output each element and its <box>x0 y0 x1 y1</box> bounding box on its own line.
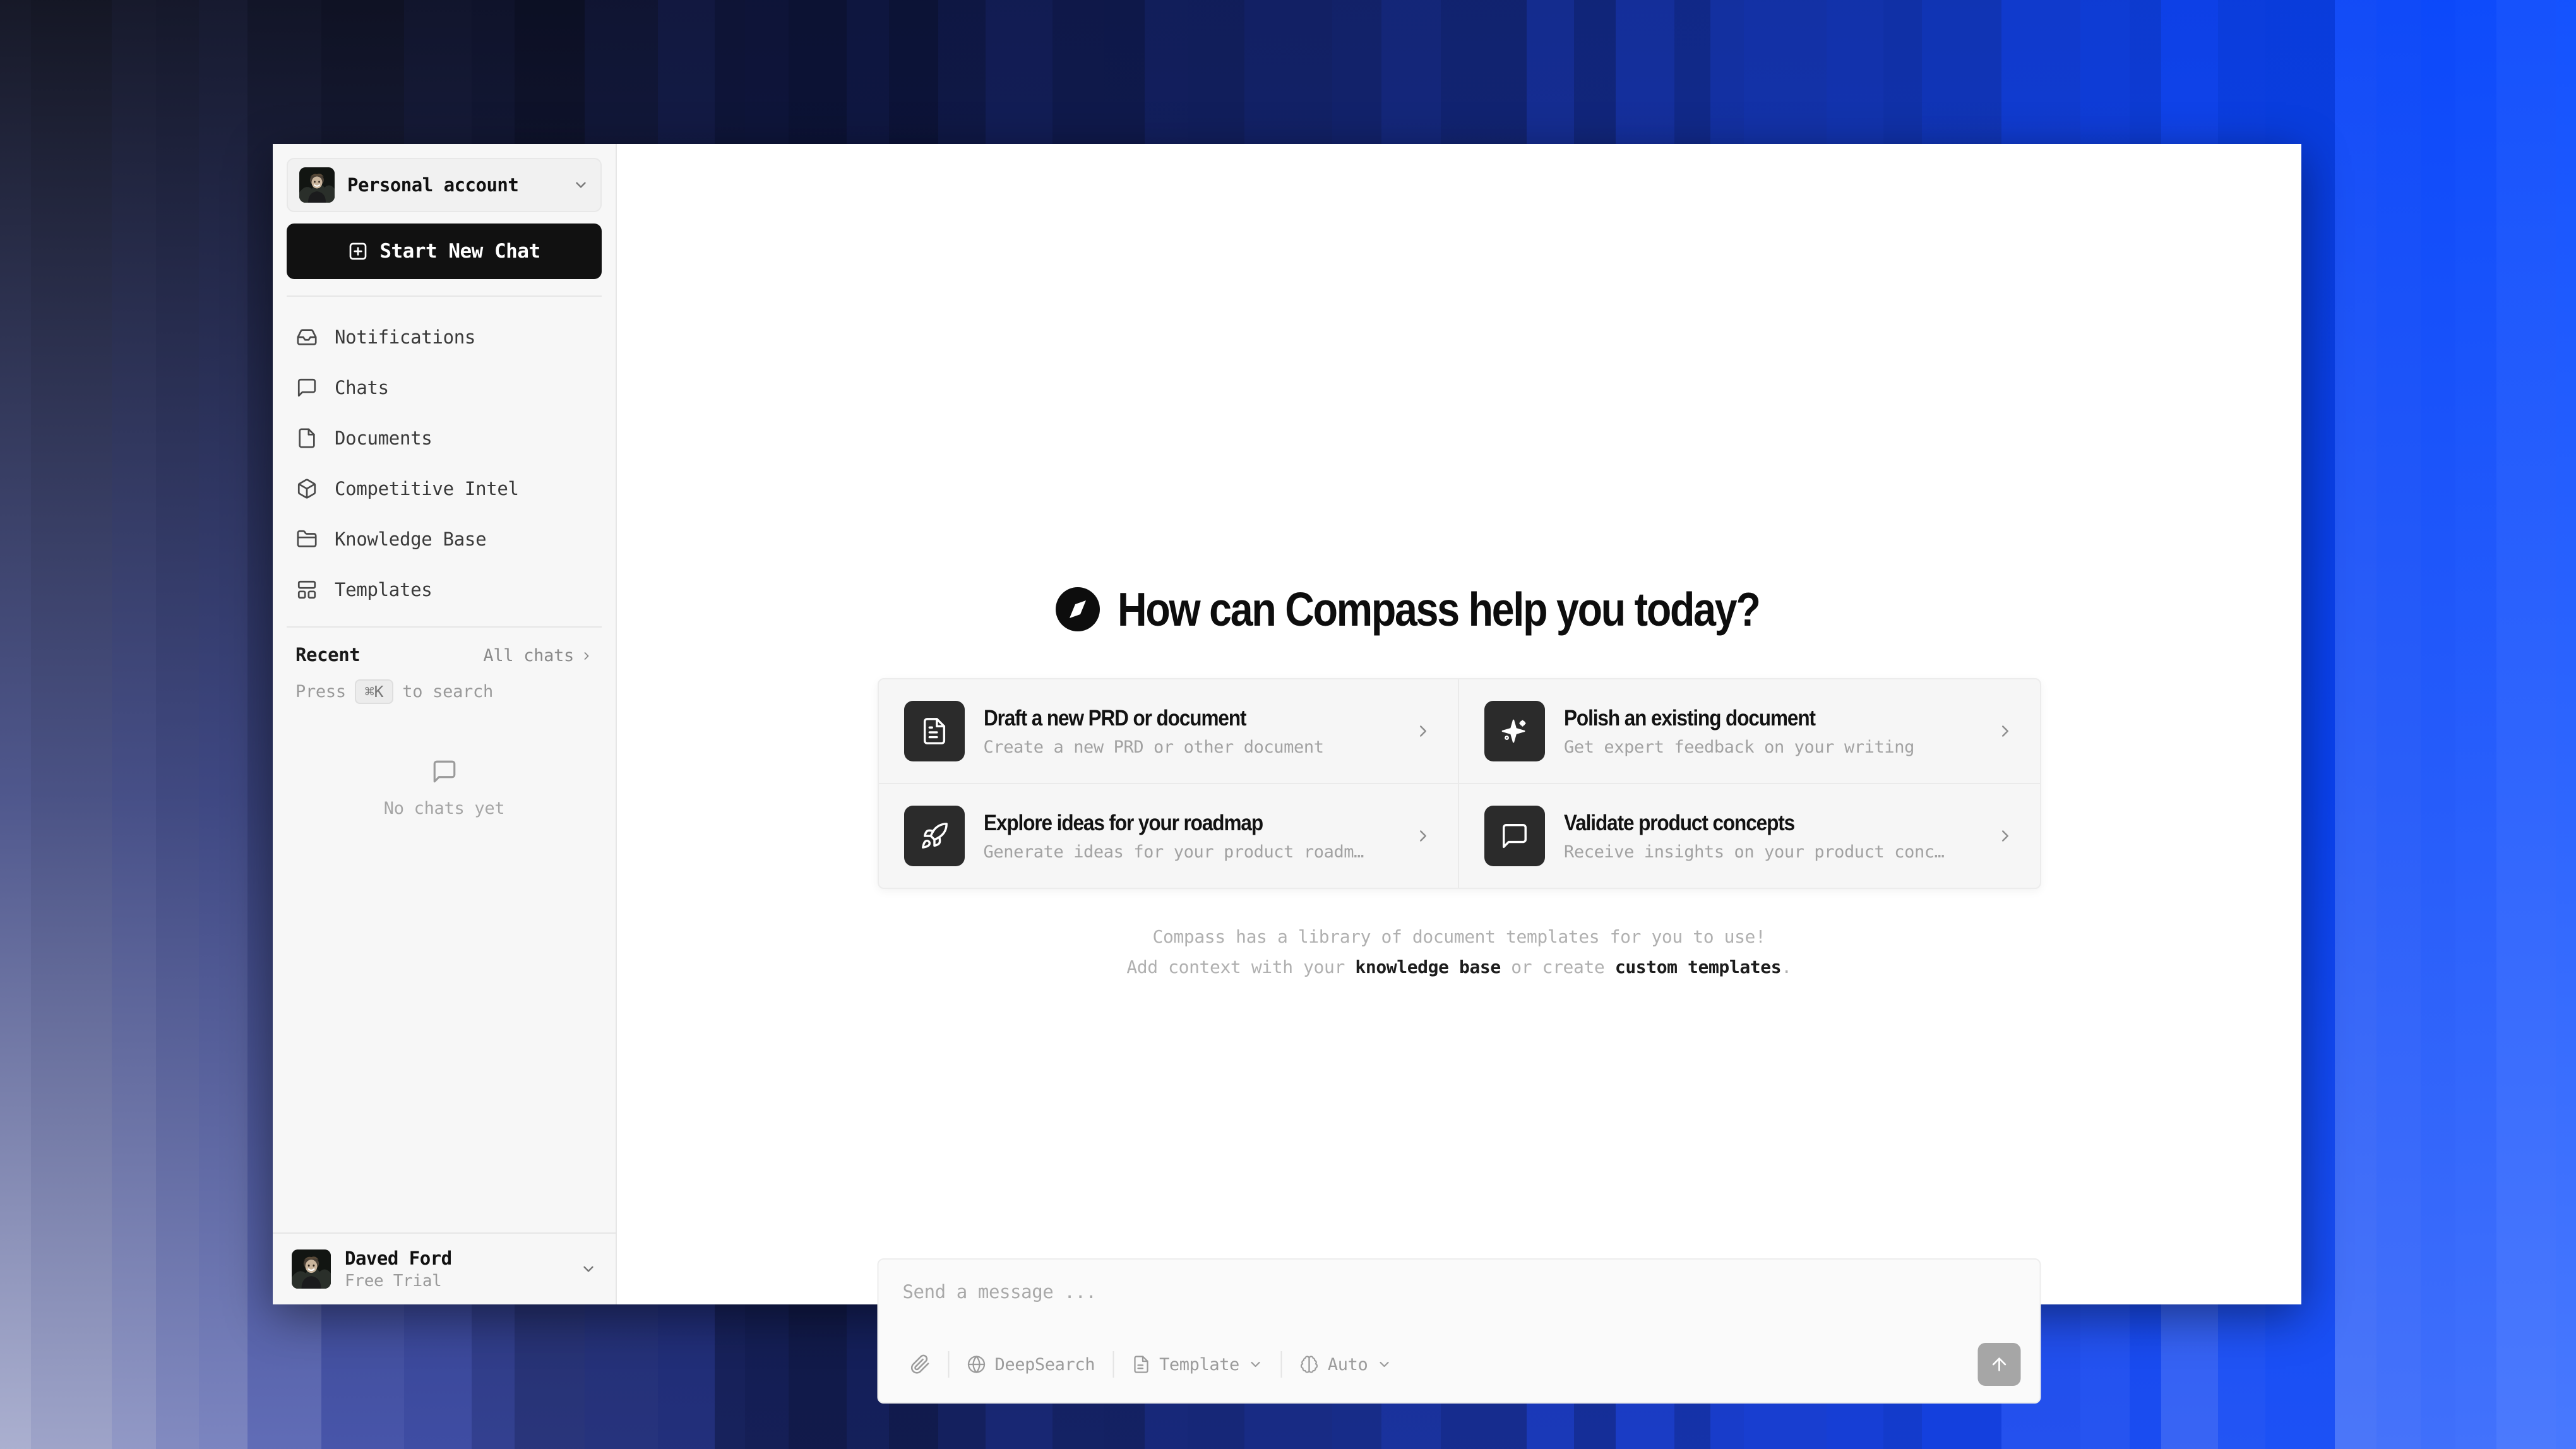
card-text: Draft a new PRD or document Create a new… <box>984 706 1395 757</box>
recent-title: Recent <box>295 644 360 665</box>
compass-logo <box>1054 586 1101 633</box>
custom-templates-link[interactable]: custom templates <box>1615 957 1781 977</box>
card-text: Explore ideas for your roadmap Generate … <box>984 811 1395 862</box>
card-description: Get expert feedback on your writing <box>1564 737 1977 757</box>
card-description: Create a new PRD or other document <box>984 737 1395 757</box>
card-explore-ideas[interactable]: Explore ideas for your roadmap Generate … <box>879 784 1460 888</box>
footnote-text: Add context with your <box>1126 957 1355 977</box>
app-window: Personal account Start New Chat Notifica… <box>273 144 2301 1304</box>
paperclip-icon <box>910 1354 931 1374</box>
footnote-line-2: Add context with your knowledge base or … <box>1126 952 1791 982</box>
sidebar-item-competitive-intel[interactable]: Competitive Intel <box>287 463 602 514</box>
card-description: Generate ideas for your product roadm… <box>984 842 1395 862</box>
arrow-up-icon <box>1989 1354 2010 1374</box>
sidebar-item-label: Documents <box>335 427 432 449</box>
user-name: Daved Ford <box>345 1248 566 1269</box>
sidebar-item-label: Notifications <box>335 326 475 348</box>
composer-toolbar: DeepSearch Template Auto <box>879 1343 2040 1402</box>
templates-footnote: Compass has a library of document templa… <box>1126 922 1791 982</box>
sidebar-item-notifications[interactable]: Notifications <box>287 312 602 362</box>
user-plan-badge: Free Trial <box>345 1272 566 1291</box>
all-chats-label: All chats <box>483 646 574 665</box>
card-title: Validate product concepts <box>1564 811 1935 836</box>
toolbar-divider <box>948 1351 950 1378</box>
chevron-down-icon <box>1248 1357 1263 1372</box>
model-selector-button[interactable]: Auto <box>1287 1350 1404 1380</box>
search-shortcut-key[interactable]: ⌘K <box>355 679 394 704</box>
chevron-down-icon <box>1376 1357 1392 1372</box>
start-new-chat-button[interactable]: Start New Chat <box>287 224 602 279</box>
template-button[interactable]: Template <box>1119 1350 1276 1380</box>
avatar <box>299 167 335 203</box>
empty-chats-state: No chats yet <box>273 704 616 1232</box>
sidebar-nav: Notifications Chats Documents Competitiv… <box>273 297 616 615</box>
main-content: How can Compass help you today? Draft a … <box>617 144 2301 1304</box>
hero-section: How can Compass help you today? Draft a … <box>617 582 2301 982</box>
knowledge-base-link[interactable]: knowledge base <box>1355 957 1500 977</box>
card-description: Receive insights on your product conc… <box>1564 842 1977 862</box>
rocket-icon <box>904 806 965 866</box>
sidebar-header: Personal account Start New Chat <box>273 144 616 297</box>
message-square-icon <box>431 758 458 785</box>
card-polish-document[interactable]: Polish an existing document Get expert f… <box>1459 679 2040 784</box>
card-validate-concepts[interactable]: Validate product concepts Receive insigh… <box>1459 784 2040 888</box>
chevron-down-icon[interactable] <box>573 177 589 193</box>
deepsearch-label: DeepSearch <box>995 1355 1095 1374</box>
sidebar-item-knowledge-base[interactable]: Knowledge Base <box>287 514 602 564</box>
search-hint: Press ⌘K to search <box>273 665 616 704</box>
account-switcher[interactable]: Personal account <box>287 158 602 212</box>
sparkles-icon <box>1484 701 1545 761</box>
sidebar-item-label: Knowledge Base <box>335 528 486 550</box>
page-title: How can Compass help you today? <box>1118 582 1760 636</box>
all-chats-link[interactable]: All chats <box>483 646 593 665</box>
attach-file-button[interactable] <box>898 1349 943 1380</box>
message-input[interactable]: Send a message ... <box>879 1260 2040 1343</box>
card-title: Draft a new PRD or document <box>984 706 1354 731</box>
avatar <box>292 1249 331 1289</box>
sidebar: Personal account Start New Chat Notifica… <box>273 144 617 1304</box>
inbox-icon <box>295 326 318 349</box>
sidebar-item-label: Templates <box>335 579 432 600</box>
user-profile-text: Daved Ford Free Trial <box>345 1248 566 1291</box>
account-name: Personal account <box>347 174 560 196</box>
toolbar-divider <box>1281 1351 1282 1378</box>
footnote-text: . <box>1781 957 1791 977</box>
footnote-text: or create <box>1501 957 1615 977</box>
box-icon <box>295 477 318 500</box>
chevron-right-icon <box>1414 722 1433 741</box>
footnote-line-1: Compass has a library of document templa… <box>1126 922 1791 952</box>
plus-square-icon <box>348 241 368 261</box>
search-hint-suffix: to search <box>402 682 493 701</box>
start-new-chat-label: Start New Chat <box>379 240 540 263</box>
sidebar-item-label: Chats <box>335 377 389 398</box>
globe-icon <box>967 1355 986 1374</box>
message-square-icon <box>1484 806 1545 866</box>
hero-title-row: How can Compass help you today? <box>1054 582 1864 636</box>
file-text-icon <box>904 701 965 761</box>
folder-open-icon <box>295 528 318 551</box>
sidebar-item-templates[interactable]: Templates <box>287 564 602 615</box>
sidebar-item-documents[interactable]: Documents <box>287 413 602 463</box>
brain-icon <box>1300 1355 1319 1374</box>
empty-chats-label: No chats yet <box>384 799 504 818</box>
chevron-right-icon <box>1996 722 2015 741</box>
chevron-right-icon <box>580 650 593 662</box>
deepsearch-button[interactable]: DeepSearch <box>955 1350 1108 1380</box>
card-title: Polish an existing document <box>1564 706 1935 731</box>
message-composer: Send a message ... DeepSearch Template <box>878 1258 2041 1404</box>
sidebar-item-chats[interactable]: Chats <box>287 362 602 413</box>
sidebar-item-label: Competitive Intel <box>335 478 519 499</box>
card-title: Explore ideas for your roadmap <box>984 811 1354 836</box>
send-button[interactable] <box>1978 1343 2021 1386</box>
toolbar-divider <box>1112 1351 1114 1378</box>
model-label: Auto <box>1328 1355 1368 1374</box>
template-label: Template <box>1159 1355 1239 1374</box>
chevron-down-icon[interactable] <box>580 1261 597 1277</box>
card-text: Validate product concepts Receive insigh… <box>1564 811 1977 862</box>
chevron-right-icon <box>1996 826 2015 845</box>
card-text: Polish an existing document Get expert f… <box>1564 706 1977 757</box>
recent-header: Recent All chats <box>273 628 616 665</box>
file-icon <box>295 427 318 450</box>
file-icon <box>1131 1355 1150 1374</box>
search-hint-prefix: Press <box>295 682 346 701</box>
card-draft-new-prd[interactable]: Draft a new PRD or document Create a new… <box>879 679 1460 784</box>
chevron-right-icon <box>1414 826 1433 845</box>
user-profile-button[interactable]: Daved Ford Free Trial <box>273 1232 616 1304</box>
quick-action-cards: Draft a new PRD or document Create a new… <box>878 678 2041 889</box>
message-square-icon <box>295 376 318 399</box>
layout-dashboard-icon <box>295 578 318 601</box>
